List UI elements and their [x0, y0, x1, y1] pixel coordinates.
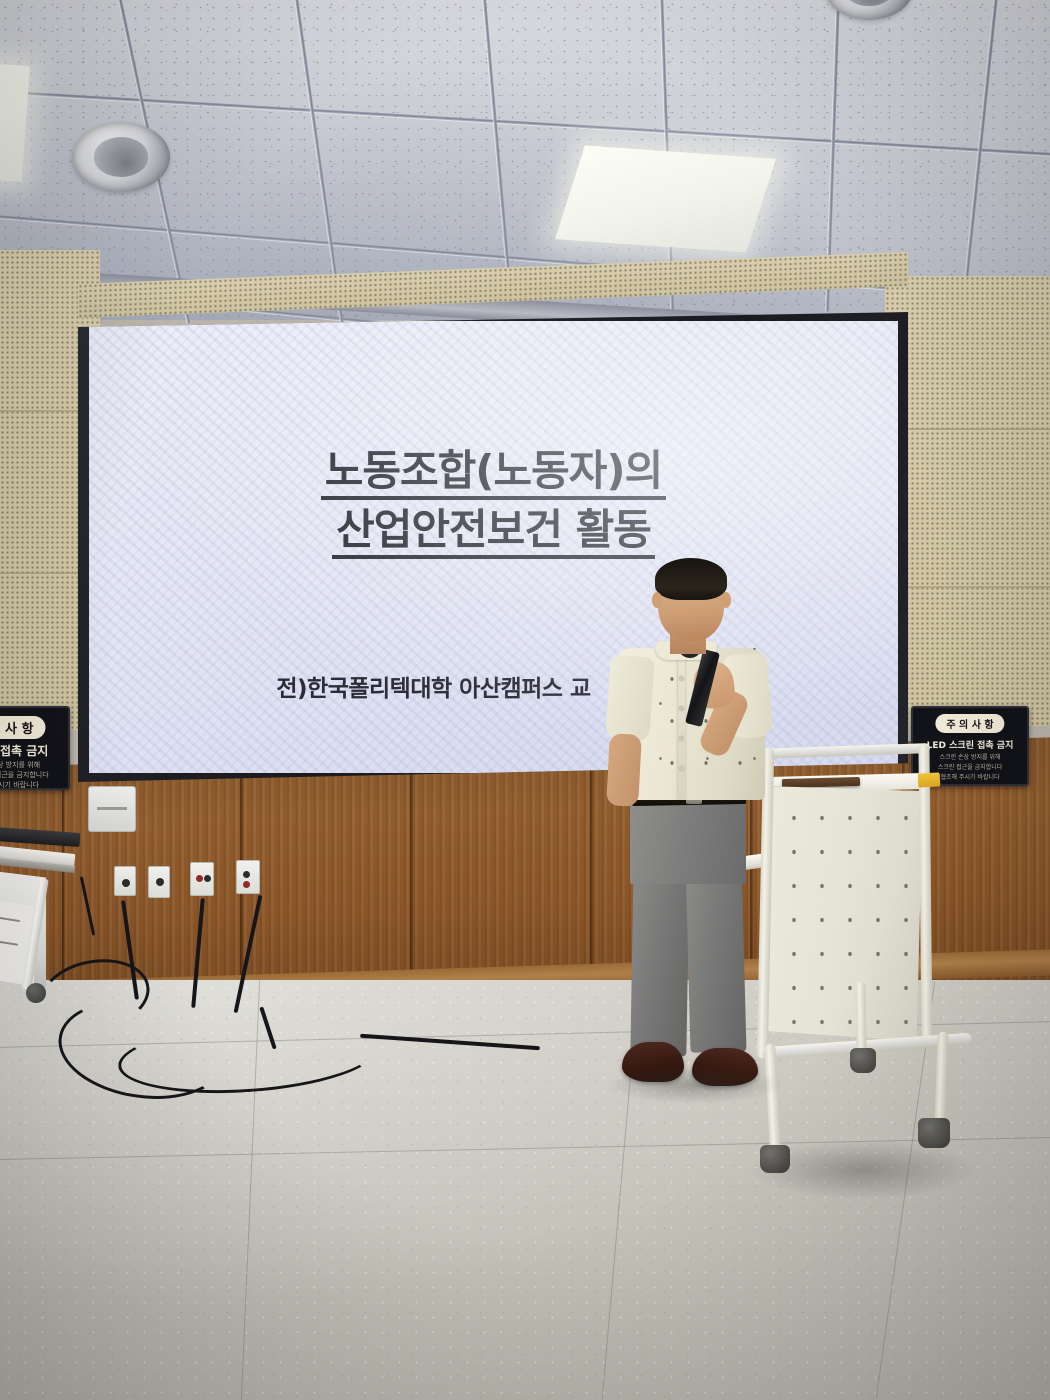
- warning-sign-right-badge: 주 의 사 항: [935, 714, 1004, 733]
- presenter-ear: [652, 592, 662, 608]
- presenter-floor-shadow: [604, 1066, 784, 1104]
- lectern-cable-clip: [918, 772, 941, 787]
- wall-acoustic-panel-right: [885, 276, 1050, 726]
- ceiling-speaker-vent-icon: [72, 122, 170, 192]
- slide-subtitle: 전)한국폴리텍대학 아산캠퍼스 교: [89, 669, 898, 703]
- wall-junction-box: [88, 786, 136, 832]
- warning-sign-left: 의 사 항 크린 접촉 금지 린 손상 방지를 위해 스크린 접근을 금지합니다…: [0, 706, 70, 790]
- presenter-leg-left: [630, 860, 689, 1057]
- screen-surface: 노동조합(노동자)의 산업안전보건 활동 전)한국폴리텍대학 아산캠퍼스 교: [89, 321, 898, 773]
- warning-sign-left-note-b: 스크린 접근을 금지합니다: [0, 770, 68, 780]
- presenter-sleeve-left: [605, 655, 655, 744]
- av-wall-plate: [190, 862, 214, 896]
- lectern-caster: [850, 1048, 876, 1073]
- warning-sign-right-heading: LED 스크린 접촉 금지: [913, 738, 1027, 751]
- led-presentation-screen: 노동조합(노동자)의 산업안전보건 활동 전)한국폴리텍대학 아산캠퍼스 교: [78, 312, 908, 782]
- warning-sign-left-note-a: 린 손상 방지를 위해: [0, 760, 68, 770]
- lectern-front-panel: [763, 786, 923, 1041]
- ceiling-light-panel: [555, 145, 776, 252]
- av-wall-plate: [148, 866, 170, 898]
- slide-title-line2: 산업안전보건 활동: [332, 506, 655, 559]
- lectern-floor-shadow: [748, 1140, 978, 1200]
- lectern-perforation-texture: [776, 795, 912, 1026]
- warning-sign-right-note-a: 스크린 손상 방지를 위해: [913, 754, 1027, 763]
- warning-sign-left-note-c: 해 주시기 바랍니다: [0, 780, 68, 790]
- warning-sign-left-badge: 의 사 항: [0, 716, 45, 739]
- warning-sign-right-note-b: 스크린 접근을 금지합니다: [913, 764, 1027, 773]
- presenter-trousers: [630, 798, 746, 884]
- av-wall-plate: [236, 860, 260, 894]
- presenter-leg-right: [685, 859, 746, 1052]
- warning-sign-left-heading: 크린 접촉 금지: [0, 742, 68, 759]
- presenter-hair: [655, 558, 727, 600]
- slide-title: 노동조합(노동자)의 산업안전보건 활동: [89, 447, 898, 559]
- lecture-room-photo: 노동조합(노동자)의 산업안전보건 활동 전)한국폴리텍대학 아산캠퍼스 교 의…: [0, 0, 1050, 1400]
- lectern-inner-leg: [855, 982, 866, 1054]
- presenter-ear: [721, 592, 731, 608]
- presenter-forearm-left: [606, 733, 642, 807]
- slide-title-line1: 노동조합(노동자)의: [321, 447, 667, 500]
- av-wall-plate: [114, 866, 136, 896]
